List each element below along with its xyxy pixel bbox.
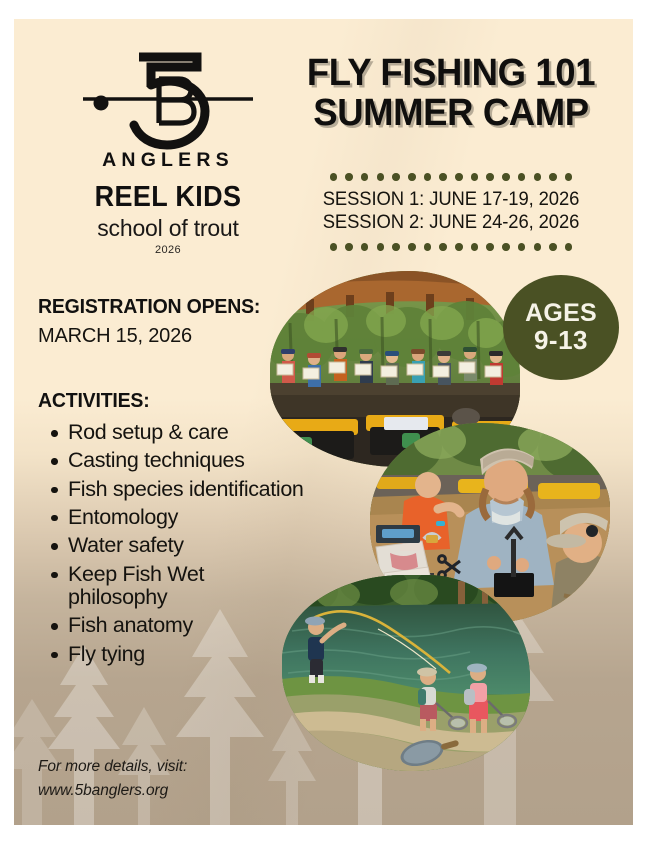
divider-dot bbox=[534, 173, 542, 181]
divider-dot bbox=[345, 173, 353, 181]
divider-dot bbox=[534, 243, 542, 251]
divider-dot bbox=[345, 243, 353, 251]
divider-dot bbox=[392, 243, 400, 251]
divider-dot bbox=[330, 173, 338, 181]
divider-dot bbox=[502, 243, 510, 251]
logo-program-name: REEL KIDS bbox=[69, 181, 266, 214]
logo-year: 2026 bbox=[62, 244, 274, 256]
page-title: FLY FISHING 101 SUMMER CAMP bbox=[276, 55, 626, 132]
divider-dot bbox=[471, 243, 479, 251]
divider-dot bbox=[361, 173, 369, 181]
ages-badge: AGES 9-13 bbox=[503, 275, 619, 380]
divider-dot bbox=[439, 243, 447, 251]
logo-org-name: ANGLERS bbox=[62, 149, 274, 172]
dotted-divider-bottom bbox=[276, 241, 626, 253]
divider-dot bbox=[424, 243, 432, 251]
sessions-block: SESSION 1: JUNE 17-19, 2026 SESSION 2: J… bbox=[276, 171, 626, 253]
divider-dot bbox=[518, 173, 526, 181]
session-item: SESSION 2: JUNE 24-26, 2026 bbox=[281, 211, 621, 235]
divider-dot bbox=[518, 243, 526, 251]
logo-tagline: school of trout bbox=[62, 215, 274, 242]
divider-dot bbox=[549, 173, 557, 181]
divider-dot bbox=[377, 243, 385, 251]
session-list: SESSION 1: JUNE 17-19, 2026 SESSION 2: J… bbox=[276, 188, 626, 236]
brand-logo-block: ANGLERS REEL KIDS school of trout 2026 bbox=[62, 45, 274, 256]
divider-dot bbox=[486, 173, 494, 181]
divider-dot bbox=[455, 173, 463, 181]
divider-dot bbox=[455, 243, 463, 251]
divider-dot bbox=[486, 243, 494, 251]
divider-dot bbox=[424, 173, 432, 181]
divider-dot bbox=[361, 243, 369, 251]
session-item: SESSION 1: JUNE 17-19, 2026 bbox=[281, 188, 621, 212]
headline-line-1: FLY FISHING 101 bbox=[283, 55, 619, 93]
divider-dot bbox=[408, 243, 416, 251]
divider-dot bbox=[502, 173, 510, 181]
divider-dot bbox=[471, 173, 479, 181]
divider-dot bbox=[549, 243, 557, 251]
divider-dot bbox=[408, 173, 416, 181]
dotted-divider-top bbox=[276, 171, 626, 183]
activities-label: ACTIVITIES: bbox=[38, 389, 293, 413]
divider-dot bbox=[565, 173, 573, 181]
divider-dot bbox=[565, 243, 573, 251]
photo-kids-fly-fishing-on-riverbank bbox=[282, 575, 530, 771]
divider-dot bbox=[377, 173, 385, 181]
divider-dot bbox=[330, 243, 338, 251]
headline-line-2: SUMMER CAMP bbox=[283, 95, 619, 133]
flyer-page: ANGLERS REEL KIDS school of trout 2026 F… bbox=[14, 19, 633, 825]
registration-label: REGISTRATION OPENS: bbox=[38, 295, 295, 319]
divider-dot bbox=[392, 173, 400, 181]
divider-dot bbox=[439, 173, 447, 181]
5b-anglers-roundel-icon bbox=[75, 45, 261, 153]
ages-badge-word: AGES bbox=[525, 301, 597, 326]
ages-badge-range: 9-13 bbox=[534, 327, 588, 354]
